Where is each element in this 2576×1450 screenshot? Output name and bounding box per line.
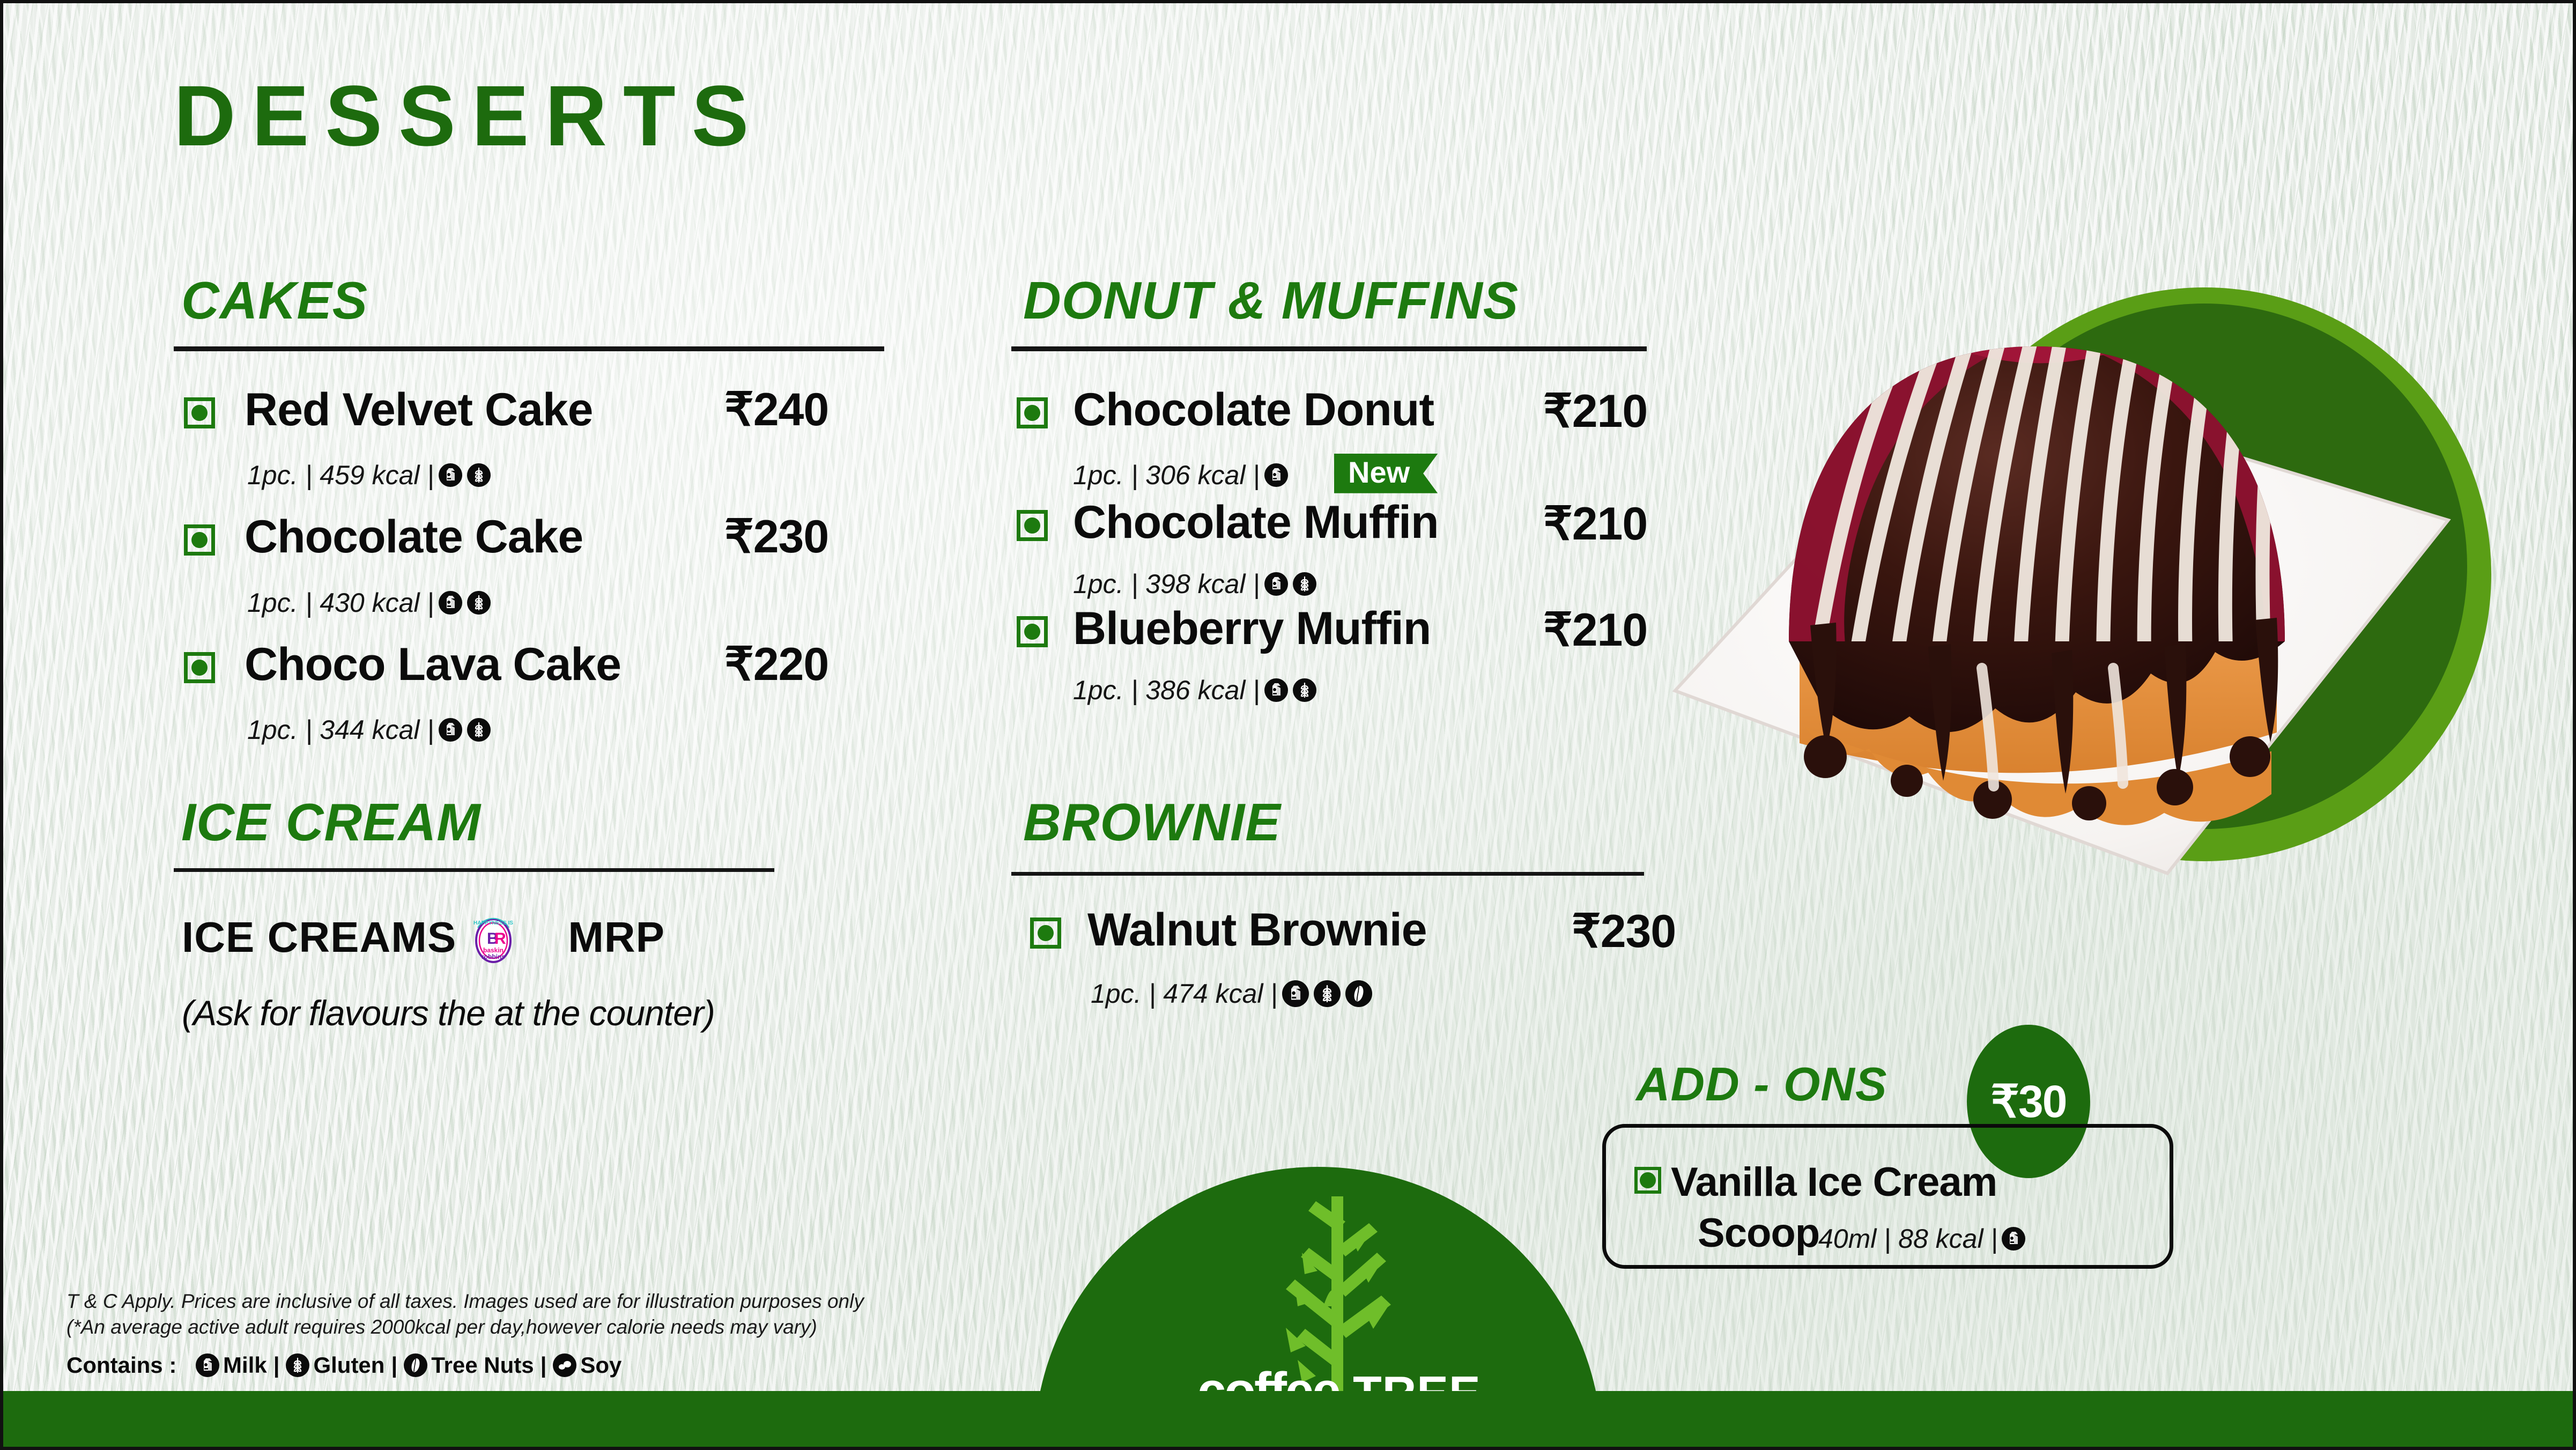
allergen-legend: Contains : Milk | Gluten | Tree Nuts | S… — [66, 1352, 621, 1378]
soy-icon — [553, 1353, 576, 1377]
veg-indicator-icon — [184, 524, 215, 556]
addon-item-name-line2: Scoop — [1698, 1210, 1819, 1256]
section-heading-donut-muffins: DONUT & MUFFINS — [1023, 274, 1519, 327]
section-heading-ice-cream: ICE CREAM — [181, 796, 481, 848]
addon-item-name-line1: Vanilla Ice Cream — [1671, 1159, 1997, 1205]
milk-icon — [1282, 980, 1309, 1007]
item-meta: 1pc. | 306 kcal | — [1073, 462, 1288, 489]
item-price: ₹210 — [1543, 607, 1647, 653]
menu-item-ice-creams[interactable]: ICE CREAMS HAPPYNESS IS B R baskin robbi… — [182, 909, 665, 965]
item-name: Chocolate Donut — [1073, 387, 1434, 433]
milk-icon — [1264, 678, 1288, 702]
item-price: ₹220 — [724, 641, 828, 687]
item-name: Blueberry Muffin — [1073, 605, 1431, 652]
milk-icon — [1264, 463, 1288, 487]
section-divider-ice-cream — [174, 868, 774, 872]
item-name: Chocolate Muffin — [1073, 499, 1439, 545]
item-meta-text: 1pc. | 474 kcal | — [1091, 980, 1277, 1007]
item-price: ₹230 — [1572, 908, 1676, 955]
svg-text:R: R — [494, 930, 506, 948]
allergen-legend-tree-nuts-label: Tree Nuts — [431, 1352, 534, 1378]
gluten-icon — [467, 463, 491, 487]
menu-poster: DESSERTS CAKES Red Velvet Cake ₹240 1pc.… — [0, 0, 2576, 1450]
gluten-icon — [286, 1353, 309, 1377]
veg-indicator-icon — [1017, 616, 1048, 647]
allergen-legend-label: Contains : — [66, 1352, 176, 1378]
addons-heading: ADD - ONS — [1636, 1057, 1887, 1112]
item-meta: 1pc. | 459 kcal | — [247, 462, 491, 489]
gluten-icon — [467, 718, 491, 742]
gluten-icon — [467, 591, 491, 615]
svg-text:HAPPYNESS IS: HAPPYNESS IS — [473, 920, 513, 926]
section-divider-cakes — [174, 346, 884, 351]
tree-nuts-icon — [1345, 980, 1372, 1007]
veg-indicator-icon — [1017, 397, 1048, 428]
item-price: ₹210 — [1543, 388, 1647, 434]
item-name: Walnut Brownie — [1087, 907, 1427, 953]
gluten-icon — [1293, 572, 1316, 596]
section-heading-brownie: BROWNIE — [1023, 796, 1281, 848]
milk-icon — [439, 591, 462, 615]
gluten-icon — [1314, 980, 1341, 1007]
tree-nuts-icon — [404, 1353, 427, 1377]
addon-meta-text: 40ml | 88 kcal | — [1818, 1223, 1997, 1254]
dessert-photo — [1628, 271, 2576, 958]
milk-icon — [439, 718, 462, 742]
allergen-legend-soy-label: Soy — [580, 1352, 621, 1378]
veg-indicator-icon — [184, 397, 215, 428]
allergen-legend-milk-label: Milk — [223, 1352, 267, 1378]
footer-terms-line-2: (*An average active adult requires 2000k… — [66, 1316, 817, 1338]
item-meta: 1pc. | 430 kcal | — [247, 589, 491, 616]
milk-icon — [439, 463, 462, 487]
milk-icon — [1264, 572, 1288, 596]
addon-item-meta: 40ml | 88 kcal | — [1818, 1223, 2025, 1254]
veg-indicator-icon — [1017, 510, 1048, 541]
item-price: ₹240 — [724, 387, 828, 433]
ice-creams-price: MRP — [568, 913, 665, 962]
new-badge: New — [1334, 454, 1438, 493]
milk-icon — [196, 1353, 219, 1377]
item-price: ₹210 — [1543, 501, 1647, 547]
ice-creams-label: ICE CREAMS — [182, 913, 456, 962]
item-meta: 1pc. | 386 kcal | — [1073, 677, 1316, 704]
ice-cream-note: (Ask for flavours the at the counter) — [182, 993, 715, 1033]
section-divider-brownie — [1011, 872, 1644, 876]
item-meta-text: 1pc. | 386 kcal | — [1073, 677, 1260, 704]
svg-text:robbins: robbins — [482, 953, 505, 960]
section-heading-cakes: CAKES — [181, 274, 368, 327]
milk-icon — [2002, 1227, 2025, 1251]
item-meta-text: 1pc. | 430 kcal | — [247, 589, 434, 616]
footer-terms-line-1: T & C Apply. Prices are inclusive of all… — [66, 1290, 864, 1313]
baskin-robbins-logo: HAPPYNESS IS B R baskin robbins — [470, 909, 516, 965]
item-name: Red Velvet Cake — [245, 387, 593, 433]
plate-and-dessert-image — [1628, 271, 2576, 958]
item-meta-text: 1pc. | 344 kcal | — [247, 716, 434, 743]
veg-indicator-icon — [184, 652, 215, 683]
item-name: Choco Lava Cake — [245, 641, 621, 687]
item-price: ₹230 — [724, 514, 828, 560]
item-meta-text: 1pc. | 459 kcal | — [247, 462, 434, 489]
item-name: Chocolate Cake — [245, 514, 583, 560]
bottom-green-bar — [3, 1391, 2573, 1447]
section-divider-donut-muffins — [1011, 346, 1647, 351]
item-meta: 1pc. | 474 kcal | — [1091, 980, 1372, 1007]
allergen-legend-gluten-label: Gluten — [313, 1352, 384, 1378]
gluten-icon — [1293, 678, 1316, 702]
item-meta: 1pc. | 344 kcal | — [247, 716, 491, 743]
veg-indicator-icon — [1030, 918, 1061, 949]
page-title: DESSERTS — [174, 73, 765, 159]
veg-indicator-icon — [1634, 1167, 1661, 1194]
item-meta: 1pc. | 398 kcal | — [1073, 571, 1316, 597]
item-meta-text: 1pc. | 306 kcal | — [1073, 462, 1260, 489]
item-meta-text: 1pc. | 398 kcal | — [1073, 571, 1260, 597]
